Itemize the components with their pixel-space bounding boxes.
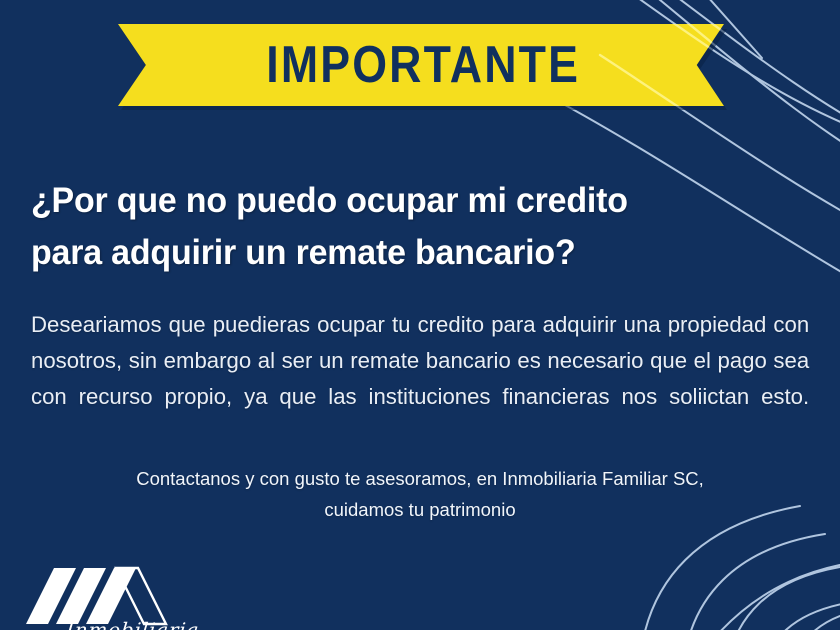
- tagline-line-2: cuidamos tu patrimonio: [60, 495, 780, 526]
- promotional-poster: IMPORTANTE ¿Por que no puedo ocupar mi c…: [0, 0, 840, 630]
- company-logo: Inmobiliaria Familiar SC: [20, 566, 205, 626]
- body-paragraph: Deseariamos que puedieras ocupar tu cred…: [31, 307, 809, 453]
- headline-line-2: para adquirir un remate bancario?: [31, 227, 778, 279]
- house-roof-monogram-icon: [20, 566, 180, 626]
- logo-script-text: Inmobiliaria: [65, 618, 201, 630]
- contact-tagline: Contactanos y con gusto te asesoramos, e…: [0, 464, 840, 525]
- banner-title: IMPORTANTE: [262, 39, 579, 91]
- headline-line-1: ¿Por que no puedo ocupar mi credito: [31, 175, 778, 227]
- tagline-line-1: Contactanos y con gusto te asesoramos, e…: [60, 464, 780, 495]
- ribbon-body: IMPORTANTE: [118, 24, 724, 106]
- importante-ribbon-banner: IMPORTANTE: [118, 24, 724, 106]
- page-title: ¿Por que no puedo ocupar mi credito para…: [31, 175, 778, 279]
